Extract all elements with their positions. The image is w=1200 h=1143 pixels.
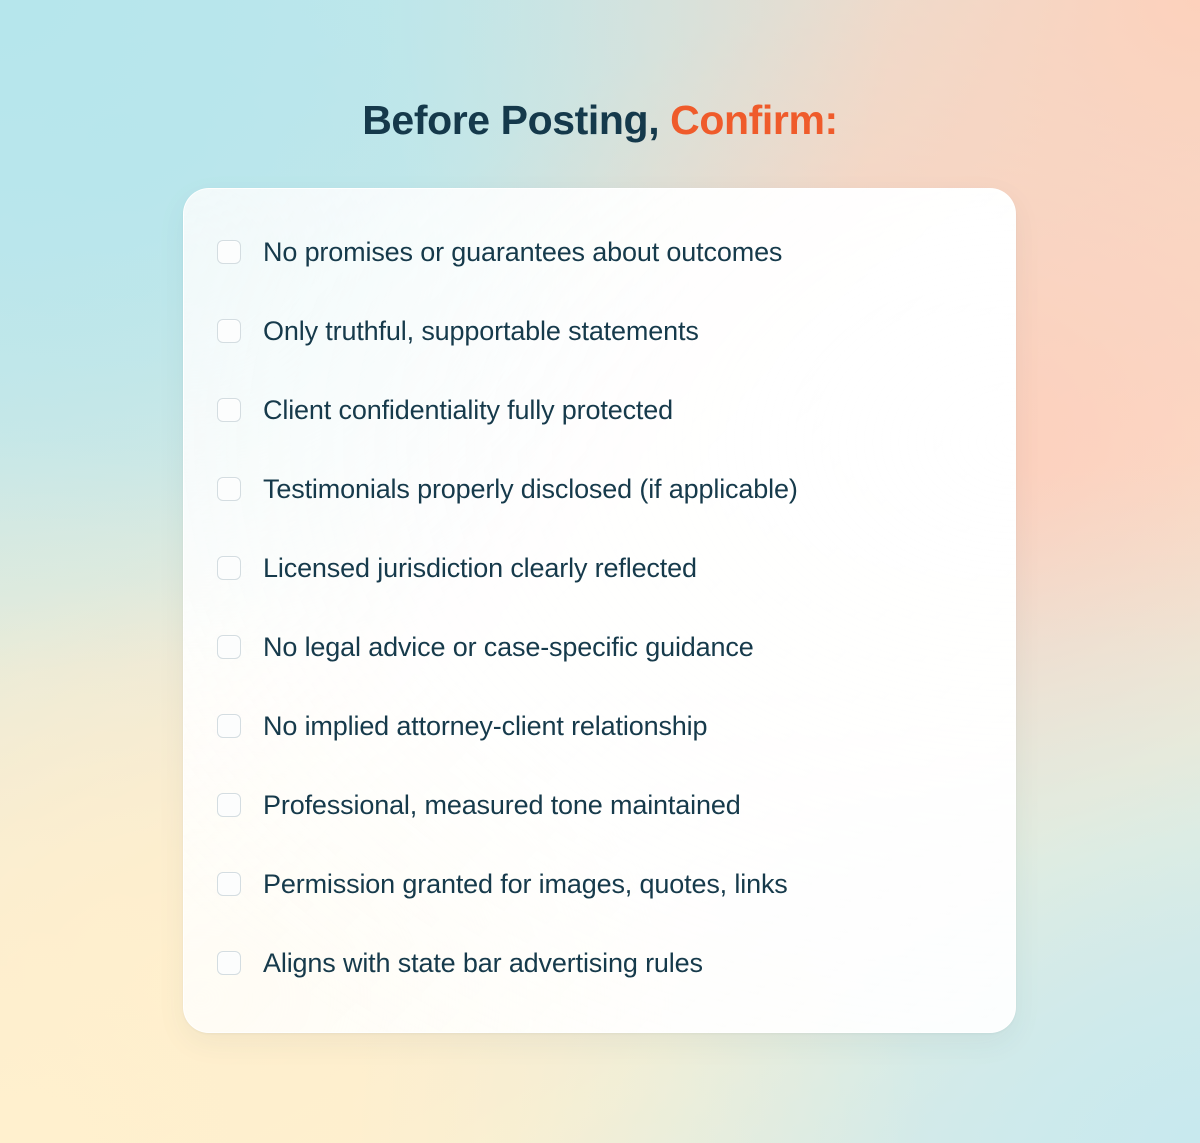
poster-canvas: Before Posting, Confirm: No promises or … bbox=[0, 0, 1200, 1143]
list-item[interactable]: Permission granted for images, quotes, l… bbox=[217, 864, 991, 904]
list-item[interactable]: No implied attorney-client relationship bbox=[217, 706, 991, 746]
list-item-label: No implied attorney-client relationship bbox=[263, 709, 707, 743]
page-title-main: Before Posting, bbox=[362, 97, 670, 143]
list-item-label: Testimonials properly disclosed (if appl… bbox=[263, 472, 798, 506]
checkbox-icon[interactable] bbox=[217, 872, 241, 896]
list-item-label: No promises or guarantees about outcomes bbox=[263, 235, 782, 269]
list-item[interactable]: No promises or guarantees about outcomes bbox=[217, 232, 991, 272]
list-item-label: Permission granted for images, quotes, l… bbox=[263, 867, 788, 901]
list-item[interactable]: Professional, measured tone maintained bbox=[217, 785, 991, 825]
list-item[interactable]: Only truthful, supportable statements bbox=[217, 311, 991, 351]
list-item[interactable]: No legal advice or case-specific guidanc… bbox=[217, 627, 991, 667]
checklist-card: No promises or guarantees about outcomes… bbox=[183, 188, 1016, 1033]
checkbox-icon[interactable] bbox=[217, 793, 241, 817]
checkbox-icon[interactable] bbox=[217, 951, 241, 975]
checkbox-icon[interactable] bbox=[217, 714, 241, 738]
list-item[interactable]: Testimonials properly disclosed (if appl… bbox=[217, 469, 991, 509]
page-title-accent: Confirm: bbox=[670, 97, 838, 143]
list-item-label: No legal advice or case-specific guidanc… bbox=[263, 630, 754, 664]
checklist: No promises or guarantees about outcomes… bbox=[217, 232, 991, 983]
list-item-label: Aligns with state bar advertising rules bbox=[263, 946, 703, 980]
list-item-label: Client confidentiality fully protected bbox=[263, 393, 673, 427]
page-title: Before Posting, Confirm: bbox=[0, 92, 1200, 148]
list-item-label: Professional, measured tone maintained bbox=[263, 788, 741, 822]
list-item-label: Only truthful, supportable statements bbox=[263, 314, 699, 348]
checkbox-icon[interactable] bbox=[217, 398, 241, 422]
checkbox-icon[interactable] bbox=[217, 240, 241, 264]
list-item[interactable]: Aligns with state bar advertising rules bbox=[217, 943, 991, 983]
list-item[interactable]: Licensed jurisdiction clearly reflected bbox=[217, 548, 991, 588]
list-item-label: Licensed jurisdiction clearly reflected bbox=[263, 551, 697, 585]
list-item[interactable]: Client confidentiality fully protected bbox=[217, 390, 991, 430]
checkbox-icon[interactable] bbox=[217, 556, 241, 580]
checkbox-icon[interactable] bbox=[217, 319, 241, 343]
checkbox-icon[interactable] bbox=[217, 635, 241, 659]
checkbox-icon[interactable] bbox=[217, 477, 241, 501]
